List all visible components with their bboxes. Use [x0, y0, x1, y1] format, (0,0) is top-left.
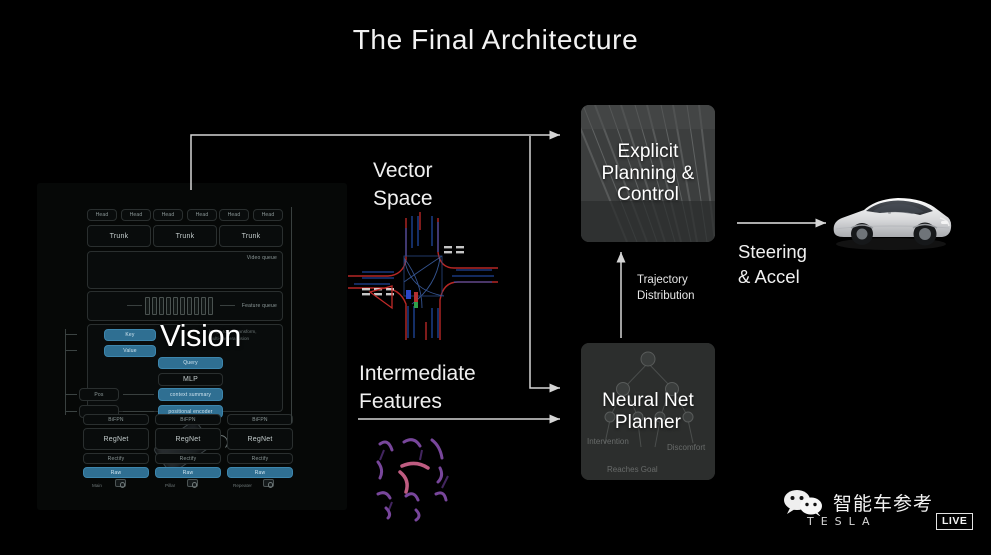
vision-overlay-title: Vision: [160, 318, 241, 354]
watermark-live-badge: LIVE: [936, 513, 973, 530]
explicit-planning-control-box[interactable]: Explicit Planning & Control: [581, 105, 715, 242]
trajectory-line1: Trajectory: [637, 273, 695, 289]
steering-line2: & Accel: [738, 265, 807, 290]
neural-net-planner-box[interactable]: Intervention Discomfort Reaches Goal Neu…: [581, 343, 715, 480]
watermark-chinese-text: 智能车参考: [833, 489, 933, 516]
planner-line1: Neural Net: [602, 390, 694, 412]
neural-net-planner-caption: Neural Net Planner: [602, 390, 694, 433]
vector-space-line1: Vector: [373, 157, 433, 185]
watermark: 智能车参考 TESLA LIVE: [781, 489, 981, 541]
explicit-planning-caption: Explicit Planning & Control: [602, 141, 695, 206]
flow-arrows: [0, 0, 991, 555]
steering-line1: Steering: [738, 240, 807, 265]
arrow-vector-space-to-planner: [530, 136, 560, 388]
trajectory-line2: Distribution: [637, 289, 695, 305]
wechat-icon: [781, 490, 829, 516]
planner-bg-label-discomfort: Discomfort: [667, 443, 706, 452]
steering-accel-label: Steering & Accel: [738, 240, 807, 290]
planner-line2: Planner: [602, 412, 694, 434]
explicit-line3: Control: [602, 184, 695, 206]
intermediate-line2: Features: [359, 388, 476, 416]
planner-bg-label-intervention: Intervention: [587, 437, 629, 446]
explicit-line1: Explicit: [602, 141, 695, 163]
vector-space-label: Vector Space: [373, 157, 433, 212]
watermark-tesla-text: TESLA: [807, 515, 877, 528]
planner-bg-label-reaches-goal: Reaches Goal: [607, 465, 658, 474]
tesla-model-3-vehicle: [828, 192, 954, 252]
vector-space-line2: Space: [373, 185, 433, 213]
explicit-line2: Planning &: [602, 163, 695, 185]
trajectory-distribution-label: Trajectory Distribution: [637, 273, 695, 304]
intermediate-line1: Intermediate: [359, 360, 476, 388]
intermediate-features-label: Intermediate Features: [359, 360, 476, 415]
slide-canvas: The Final Architecture Head Head Head He…: [0, 0, 991, 555]
